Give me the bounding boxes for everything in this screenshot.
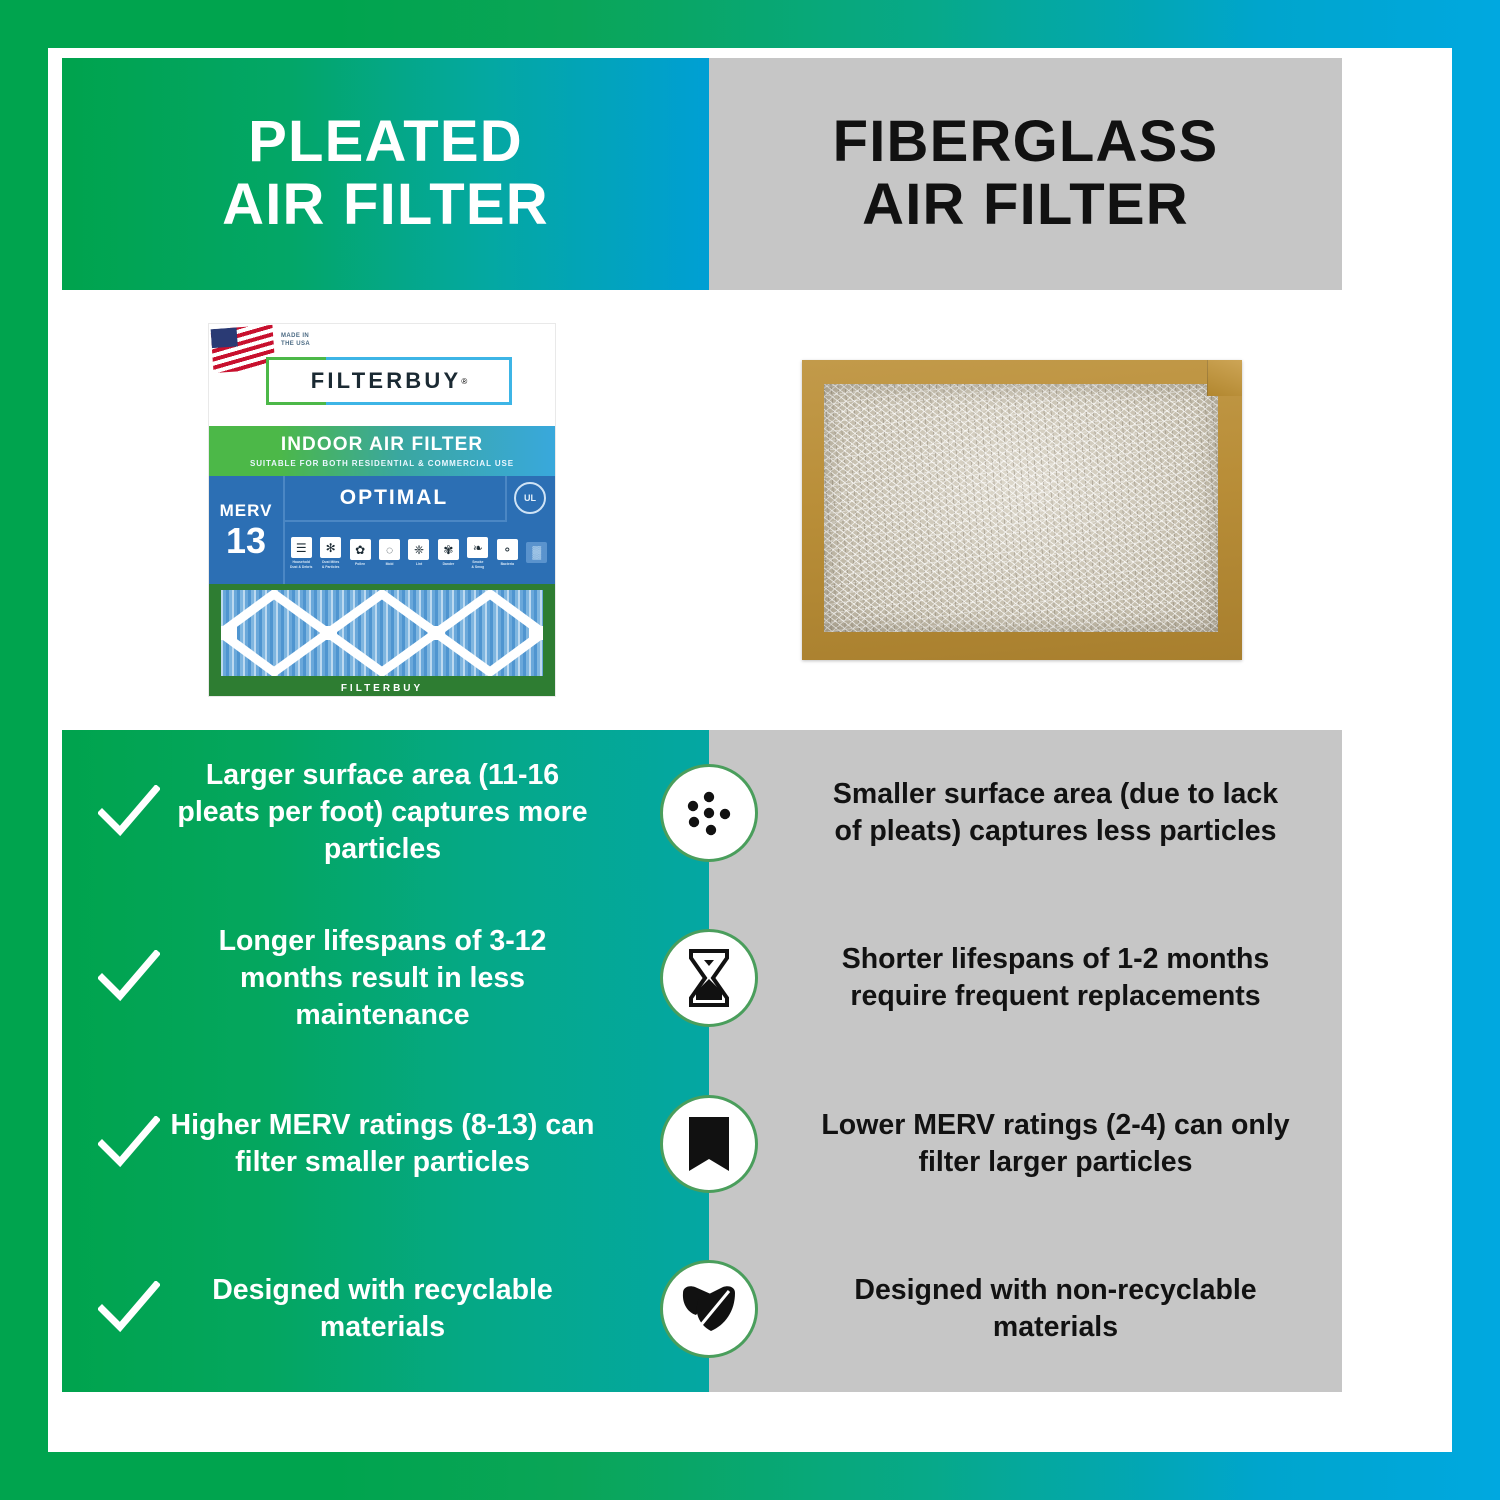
comparison-text-pleated: Higher MERV ratings (8-13) can filter sm… — [166, 1107, 599, 1181]
capture-icon-dust-mites: ✻ Dust Mites & Particles — [317, 537, 343, 569]
bacteria-icon: ⚬ — [497, 539, 518, 560]
product-image-band: MADE IN THE USA FILTERBUY® INDOOR AIR FI… — [62, 290, 1342, 730]
ul-certification-icon: UL — [514, 482, 546, 514]
pleat-media-area: FILTERBUY — [209, 584, 555, 696]
comparison-cell-fiberglass: Lower MERV ratings (2-4) can only filter… — [709, 1061, 1342, 1227]
comparison-text-pleated: Larger surface area (11-16 pleats per fo… — [166, 757, 599, 868]
leaf-icon-badge — [660, 1260, 758, 1358]
capture-icon-lint: ❈ Lint — [406, 539, 432, 566]
tier-block: OPTIMAL — [283, 476, 507, 522]
check-mark-icon — [92, 1281, 166, 1337]
capture-icon-household-dust: ☰ Household Dust & Debris — [288, 537, 314, 569]
comparison-cell-pleated: Higher MERV ratings (8-13) can filter sm… — [62, 1061, 709, 1227]
merv-label: MERV — [220, 501, 273, 521]
fiberglass-media-texture — [824, 384, 1218, 632]
comparison-row: Designed with recyclable materials Desig… — [62, 1227, 1342, 1393]
leaf-icon — [679, 1281, 739, 1337]
capture-icon-bacteria: ⚬ Bacteria — [494, 539, 520, 566]
tier-label: OPTIMAL — [340, 486, 449, 510]
made-in-usa-text: MADE IN THE USA — [281, 332, 310, 348]
pleated-filter-cell: MADE IN THE USA FILTERBUY® INDOOR AIR FI… — [62, 290, 702, 730]
header-row: Pleated Air Filter Fiberglass Air Filter — [62, 58, 1342, 290]
filterbuy-logo-text: FILTERBUY — [311, 368, 462, 394]
comparison-rows: Larger surface area (11-16 pleats per fo… — [62, 730, 1342, 1392]
label-top-white: MADE IN THE USA FILTERBUY® — [209, 324, 555, 426]
check-mark-icon — [92, 950, 166, 1006]
ul-seal-block: UL — [505, 476, 555, 520]
comparison-cell-fiberglass: Designed with non-recyclable materials — [709, 1227, 1342, 1393]
capture-icon-strip: ☰ Household Dust & Debris ✻ Dust Mites &… — [283, 522, 555, 584]
header-pleated-title: Pleated Air Filter — [222, 111, 549, 236]
capture-icon-smoke-smog: ❧ Smoke & Smog — [465, 537, 491, 569]
capture-icon-caption: Dander — [443, 562, 455, 566]
comparison-cell-fiberglass: Smaller surface area (due to lack of ple… — [709, 730, 1342, 896]
check-mark-icon — [92, 1116, 166, 1172]
label-indoor-air-filter: INDOOR AIR FILTER — [281, 434, 483, 456]
comparison-cell-pleated: Larger surface area (11-16 pleats per fo… — [62, 730, 709, 896]
mold-icon: ◌ — [379, 539, 400, 560]
comparison-row: Higher MERV ratings (8-13) can filter sm… — [62, 1061, 1342, 1227]
lint-icon: ❈ — [408, 539, 429, 560]
cardboard-corner-notch — [1207, 360, 1242, 396]
smoke-smog-icon: ❧ — [467, 537, 488, 558]
diamond-support-mesh — [221, 590, 543, 676]
capture-icon-caption: Smoke & Smog — [471, 560, 484, 569]
bookmark-icon — [686, 1115, 732, 1173]
fiberglass-filter-image — [802, 360, 1242, 660]
merv-value: 13 — [226, 523, 266, 559]
capture-icon-mold: ◌ Mold — [376, 539, 402, 566]
comparison-cell-pleated: Designed with recyclable materials — [62, 1227, 709, 1393]
capture-icon-dander: ✾ Dander — [435, 539, 461, 566]
comparison-text-fiberglass: Shorter lifespans of 1-2 months require … — [819, 941, 1292, 1015]
comparison-text-pleated: Designed with recyclable materials — [166, 1272, 599, 1346]
comparison-row: Larger surface area (11-16 pleats per fo… — [62, 730, 1342, 896]
capture-icon-caption: Household Dust & Debris — [290, 560, 312, 569]
check-mark-icon — [92, 785, 166, 841]
filterbuy-logo: FILTERBUY® — [266, 357, 512, 405]
capture-icon-disabled: ▓ — [524, 542, 550, 565]
particles-icon-badge — [660, 764, 758, 862]
merv-block: MERV 13 — [209, 476, 285, 584]
capture-icon-caption: Bacteria — [501, 562, 514, 566]
registered-mark-icon: ® — [461, 377, 467, 386]
comparison-text-fiberglass: Smaller surface area (due to lack of ple… — [819, 776, 1292, 850]
pollen-icon: ✿ — [350, 539, 371, 560]
label-suitable-text: SUITABLE FOR BOTH RESIDENTIAL & COMMERCI… — [250, 459, 514, 468]
capture-icon-pollen: ✿ Pollen — [347, 539, 373, 566]
header-pleated: Pleated Air Filter — [62, 58, 709, 290]
capture-icon-caption: Pollen — [355, 562, 365, 566]
pleated-filter-image: MADE IN THE USA FILTERBUY® INDOOR AIR FI… — [209, 324, 555, 696]
capture-icon-caption: Lint — [416, 562, 422, 566]
filterbuy-footer-brand: FILTERBUY — [209, 683, 555, 694]
comparison-cell-pleated: Longer lifespans of 3-12 months result i… — [62, 896, 709, 1062]
hourglass-icon — [684, 948, 734, 1008]
bookmark-icon-badge — [660, 1095, 758, 1193]
hourglass-icon-badge — [660, 929, 758, 1027]
header-fiberglass: Fiberglass Air Filter — [709, 58, 1342, 290]
comparison-cell-fiberglass: Shorter lifespans of 1-2 months require … — [709, 896, 1342, 1062]
label-band-green: INDOOR AIR FILTER SUITABLE FOR BOTH RESI… — [209, 426, 555, 476]
label-band-blue: MERV 13 OPTIMAL UL ☰ Household Dust & De… — [209, 476, 555, 584]
comparison-text-fiberglass: Lower MERV ratings (2-4) can only filter… — [819, 1107, 1292, 1181]
capture-icon-caption: Mold — [386, 562, 394, 566]
particles-icon — [680, 784, 738, 842]
header-fiberglass-title: Fiberglass Air Filter — [833, 111, 1219, 236]
dander-icon: ✾ — [438, 539, 459, 560]
comparison-text-fiberglass: Designed with non-recyclable materials — [819, 1272, 1292, 1346]
household-dust-icon: ☰ — [291, 537, 312, 558]
comparison-text-pleated: Longer lifespans of 3-12 months result i… — [166, 923, 599, 1034]
fiberglass-filter-cell — [702, 290, 1342, 730]
capture-icon-caption: Dust Mites & Particles — [322, 560, 340, 569]
comparison-row: Longer lifespans of 3-12 months result i… — [62, 896, 1342, 1062]
disabled-icon: ▓ — [526, 542, 547, 563]
dust-mites-icon: ✻ — [320, 537, 341, 558]
